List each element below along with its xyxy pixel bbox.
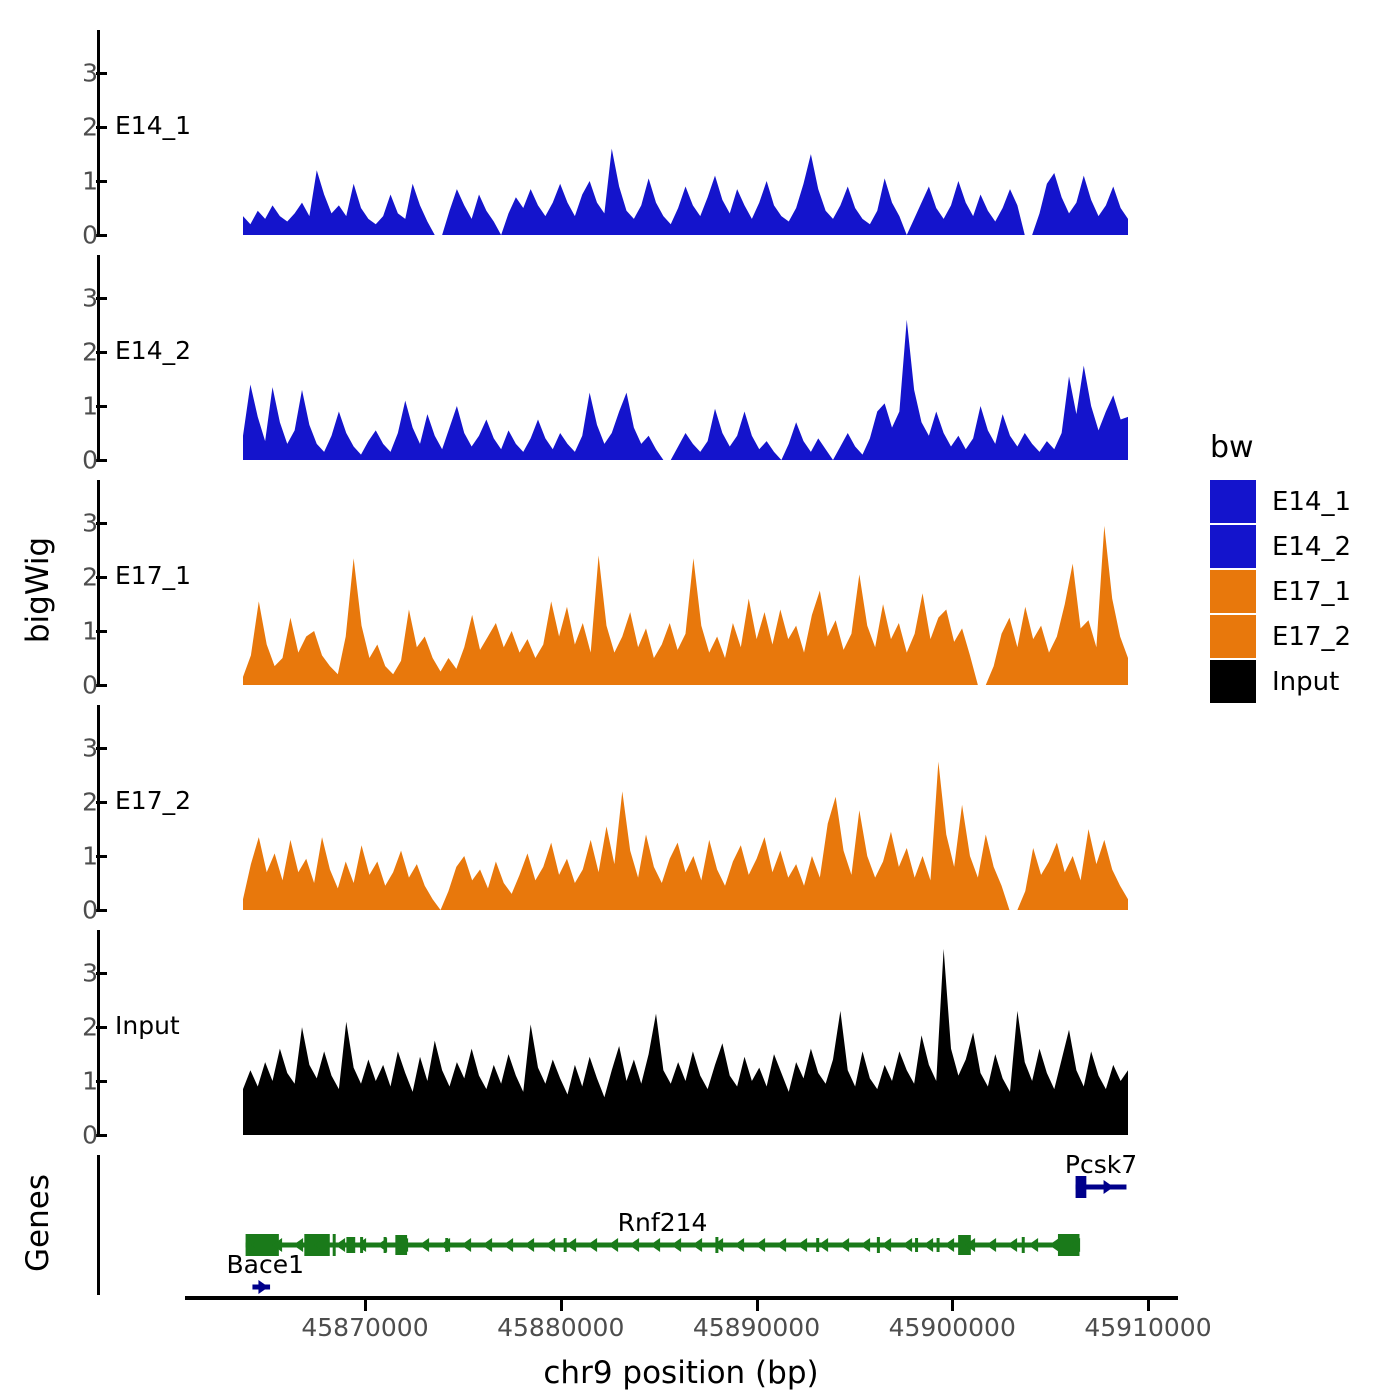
signal-area-e17_1 <box>97 480 1180 685</box>
legend-item-e17_2[interactable]: E17_2 <box>1210 614 1351 659</box>
x-tick-label: 45910000 <box>1084 1313 1211 1342</box>
legend-label: E17_2 <box>1272 622 1351 652</box>
genome-browser-figure: bigWig Genes 0123E14_10123E14_20123E17_1… <box>0 0 1400 1400</box>
genes-track: Rnf214Pcsk7Bace1 <box>0 1155 1200 1295</box>
y-tick-label: 2 <box>82 563 98 592</box>
y-tick-label: 2 <box>82 338 98 367</box>
legend-item-input[interactable]: Input <box>1210 659 1351 704</box>
y-tick-label: 1 <box>82 167 98 196</box>
legend-items: E14_1E14_2E17_1E17_2Input <box>1210 479 1351 704</box>
y-tick-label: 1 <box>82 392 98 421</box>
x-tick <box>1147 1300 1150 1311</box>
y-tick-label: 3 <box>82 284 98 313</box>
y-tick-label: 2 <box>82 1013 98 1042</box>
track-panel-e17_2: 0123E17_2 <box>97 705 1180 910</box>
y-tick-label: 1 <box>82 1067 98 1096</box>
signal-area-e17_2 <box>97 705 1180 910</box>
legend-item-e17_1[interactable]: E17_1 <box>1210 569 1351 614</box>
legend-label: Input <box>1272 667 1339 697</box>
x-axis-title-text: chr9 position (bp) <box>543 1355 818 1391</box>
x-tick-label: 45880000 <box>497 1313 624 1342</box>
legend-title: bw <box>1210 430 1351 465</box>
x-tick <box>364 1300 367 1311</box>
track-panel-e14_2: 0123E14_2 <box>97 255 1180 460</box>
y-axis-group-label: bigWig <box>8 40 68 1140</box>
x-axis-title: chr9 position (bp) <box>0 1355 1362 1391</box>
y-tick-label: 0 <box>82 896 98 925</box>
track-panel-input: 0123Input <box>97 930 1180 1135</box>
svg-text:Pcsk7: Pcsk7 <box>1065 1155 1137 1179</box>
svg-text:Rnf214: Rnf214 <box>618 1208 708 1237</box>
y-tick-label: 1 <box>82 617 98 646</box>
y-tick-label: 3 <box>82 509 98 538</box>
x-tick-label: 45900000 <box>889 1313 1016 1342</box>
signal-area-e14_1 <box>97 30 1180 235</box>
signal-area-input <box>97 930 1180 1135</box>
y-tick-label: 0 <box>82 671 98 700</box>
y-tick-label: 3 <box>82 734 98 763</box>
x-tick-label: 45890000 <box>693 1313 820 1342</box>
legend-swatch-e17_2 <box>1210 615 1256 658</box>
y-tick-label: 0 <box>82 1121 98 1150</box>
track-panel-e14_1: 0123E14_1 <box>97 30 1180 235</box>
legend-swatch-e14_2 <box>1210 525 1256 568</box>
x-tick <box>951 1300 954 1311</box>
y-tick-label: 0 <box>82 221 98 250</box>
y-tick-label: 2 <box>82 788 98 817</box>
legend-swatch-e17_1 <box>1210 570 1256 613</box>
svg-text:Bace1: Bace1 <box>226 1250 304 1279</box>
y-tick-label: 1 <box>82 842 98 871</box>
legend-label: E14_1 <box>1272 487 1351 517</box>
y-tick-label: 2 <box>82 113 98 142</box>
legend-swatch-input <box>1210 660 1256 703</box>
y-axis-group-label-text: bigWig <box>20 537 56 643</box>
gene-models: Rnf214Pcsk7Bace1 <box>0 1155 1200 1295</box>
track-panel-e17_1: 0123E17_1 <box>97 480 1180 685</box>
x-axis-line <box>185 1296 1178 1300</box>
legend-label: E17_1 <box>1272 577 1351 607</box>
legend-item-e14_1[interactable]: E14_1 <box>1210 479 1351 524</box>
signal-area-e14_2 <box>97 255 1180 460</box>
y-tick-label: 3 <box>82 59 98 88</box>
y-tick-label: 0 <box>82 446 98 475</box>
legend-item-e14_2[interactable]: E14_2 <box>1210 524 1351 569</box>
legend-swatch-e14_1 <box>1210 480 1256 523</box>
x-tick <box>756 1300 759 1311</box>
legend: bw E14_1E14_2E17_1E17_2Input <box>1210 430 1351 704</box>
x-tick-label: 45870000 <box>301 1313 428 1342</box>
x-tick <box>560 1300 563 1311</box>
legend-label: E14_2 <box>1272 532 1351 562</box>
y-tick-label: 3 <box>82 959 98 988</box>
